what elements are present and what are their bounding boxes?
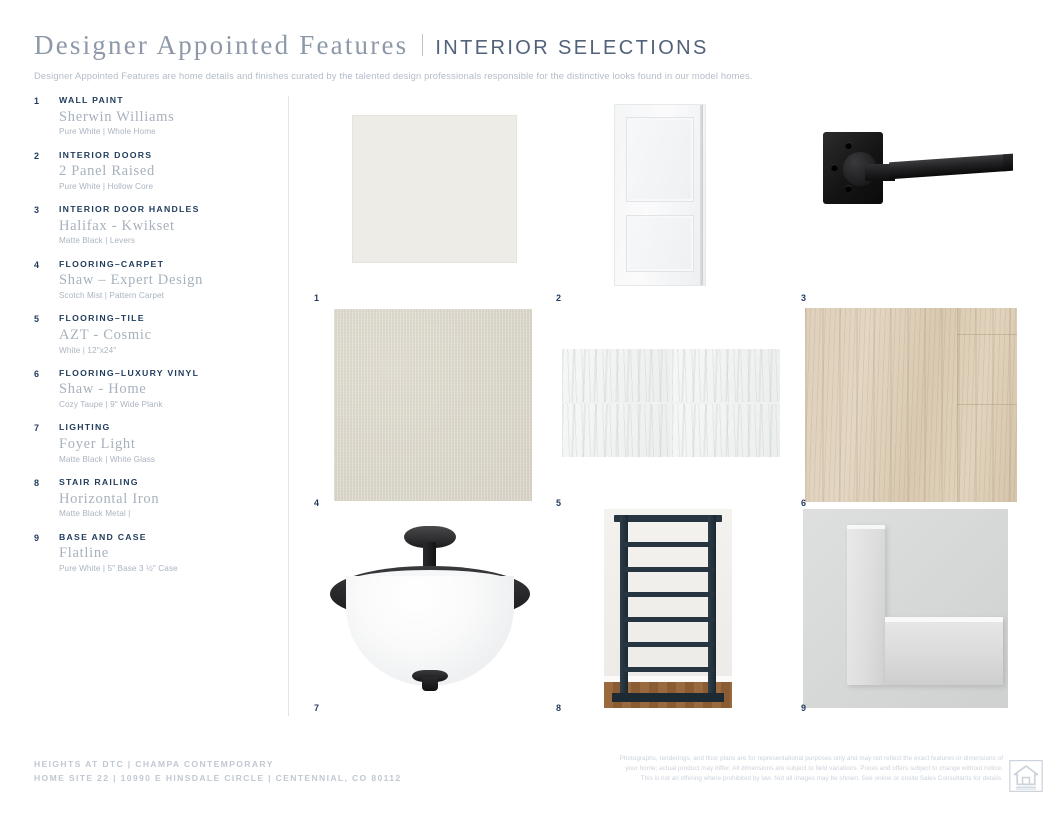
handle-screw-icon	[845, 185, 852, 192]
designer-appointed-features-page: Designer Appointed Features INTERIOR SEL…	[0, 0, 1055, 815]
baseboard-highlight	[885, 617, 1003, 622]
gallery-cell-4: 4	[310, 301, 542, 506]
plank-seam	[957, 308, 958, 502]
railing-foot-plate	[612, 693, 724, 702]
railing-horizontal-bar	[622, 567, 714, 572]
page-subtitle: Designer Appointed Features are home det…	[34, 70, 1024, 81]
gallery-cell-1: 1	[310, 96, 542, 301]
spec-category: FLOORING–LUXURY VINYL	[59, 369, 274, 379]
gallery-cell-5: 5	[552, 301, 784, 506]
disclaimer-line-2: your home; actual product may differ. Al…	[533, 764, 1003, 774]
handle-screw-icon	[831, 164, 838, 171]
community-name: HEIGHTS AT DTC | CHAMPA CONTEMPORARY	[34, 758, 402, 772]
handle-screw-icon	[845, 142, 852, 149]
railing-top-rail	[614, 515, 722, 522]
spec-detail: Matte Black | White Glass	[59, 455, 274, 465]
vertical-divider	[288, 96, 289, 716]
spec-number: 4	[34, 260, 39, 270]
spec-category: BASE AND CASE	[59, 533, 274, 543]
railing-horizontal-bar	[622, 617, 714, 622]
railing-frame	[618, 515, 718, 694]
home-site-address: HOME SITE 22 | 10990 E HINSDALE CIRCLE |…	[34, 772, 402, 786]
gallery-number: 9	[801, 703, 806, 713]
disclaimer-line-1: Photographs, renderings, and floor plans…	[533, 754, 1003, 764]
spec-detail: Pure White | Whole Home	[59, 127, 274, 137]
spec-category: STAIR RAILING	[59, 478, 274, 488]
list-item: 4 FLOORING–CARPET Shaw – Expert Design S…	[34, 260, 274, 301]
spec-category: WALL PAINT	[59, 96, 274, 106]
spec-name: Sherwin Williams	[59, 109, 274, 126]
gallery-number: 7	[314, 703, 319, 713]
railing-horizontal-bar	[622, 592, 714, 597]
spec-number: 5	[34, 314, 39, 324]
stair-railing-image	[604, 509, 732, 708]
spec-category: FLOORING–TILE	[59, 314, 274, 324]
spec-category: INTERIOR DOOR HANDLES	[59, 205, 274, 215]
railing-horizontal-bar	[622, 542, 714, 547]
door-edge	[700, 105, 703, 285]
light-finial-tip	[422, 677, 438, 691]
tile-unit	[672, 349, 780, 402]
gallery-cell-6: 6	[797, 301, 1025, 506]
list-item: 3 INTERIOR DOOR HANDLES Halifax - Kwikse…	[34, 205, 274, 246]
spec-category: LIGHTING	[59, 423, 274, 433]
door-panel-top	[626, 117, 694, 202]
plank-seam	[957, 334, 1017, 335]
luxury-vinyl-plank-image	[805, 308, 1017, 502]
gallery-number: 8	[556, 703, 561, 713]
ceiling-light-image	[316, 520, 540, 698]
spec-number: 2	[34, 151, 39, 161]
community-info: HEIGHTS AT DTC | CHAMPA CONTEMPORARY HOM…	[34, 758, 402, 786]
spec-detail: Pure White | Hollow Core	[59, 182, 274, 192]
spec-number: 9	[34, 533, 39, 543]
tile-unit	[672, 404, 780, 457]
handle-lever-arm	[889, 154, 1013, 180]
page-title-primary: Designer Appointed Features	[34, 30, 408, 61]
spec-category: INTERIOR DOORS	[59, 151, 274, 161]
gallery-row: 7	[310, 506, 1025, 711]
spec-number: 6	[34, 369, 39, 379]
paint-swatch-image	[352, 115, 517, 263]
page-header: Designer Appointed Features INTERIOR SEL…	[34, 30, 1024, 81]
spec-number: 3	[34, 205, 39, 215]
gallery-cell-7: 7	[310, 506, 542, 711]
page-title-secondary: INTERIOR SELECTIONS	[435, 37, 708, 60]
casing-sample	[847, 525, 885, 685]
list-item: 7 LIGHTING Foyer Light Matte Black | Whi…	[34, 423, 274, 464]
spec-detail: Scotch Mist | Pattern Carpet	[59, 291, 274, 301]
spec-detail: White | 12"x24"	[59, 346, 274, 356]
plank-seam	[957, 404, 1017, 405]
railing-horizontal-bar	[622, 642, 714, 647]
list-item: 5 FLOORING–TILE AZT - Cosmic White | 12"…	[34, 314, 274, 355]
spec-detail: Matte Black Metal |	[59, 509, 274, 519]
door-slab	[614, 104, 706, 286]
spec-category: FLOORING–CARPET	[59, 260, 274, 270]
spec-detail: Matte Black | Levers	[59, 236, 274, 246]
spec-number: 7	[34, 423, 39, 433]
spec-name: 2 Panel Raised	[59, 163, 274, 180]
list-item: 8 STAIR RAILING Horizontal Iron Matte Bl…	[34, 478, 274, 519]
list-item: 2 INTERIOR DOORS 2 Panel Raised Pure Whi…	[34, 151, 274, 192]
selections-list: 1 WALL PAINT Sherwin Williams Pure White…	[34, 96, 274, 587]
carpet-swatch-image	[334, 309, 532, 501]
gallery-row: 1 2	[310, 96, 1025, 301]
gallery-cell-9: 9	[797, 506, 1025, 711]
disclaimer-line-3: This is not an offering where prohibited…	[533, 774, 1003, 784]
title-divider	[422, 34, 423, 56]
spec-name: Shaw - Home	[59, 381, 274, 398]
spec-detail: Cozy Taupe | 9" Wide Plank	[59, 400, 274, 410]
spec-name: Horizontal Iron	[59, 491, 274, 508]
spec-number: 1	[34, 96, 39, 106]
gallery-cell-8: 8	[552, 506, 784, 711]
image-gallery: 1 2	[310, 96, 1025, 711]
tile-unit	[562, 404, 670, 457]
tile-swatch-image	[562, 349, 780, 457]
spec-name: Halifax - Kwikset	[59, 218, 274, 235]
gallery-cell-2: 2	[552, 96, 784, 301]
spec-name: Foyer Light	[59, 436, 274, 453]
equal-housing-opportunity-logo	[1009, 760, 1043, 792]
spec-name: Flatline	[59, 545, 274, 562]
handle-lever-cap	[1003, 154, 1013, 172]
railing-horizontal-bar	[622, 667, 714, 672]
page-footer: HEIGHTS AT DTC | CHAMPA CONTEMPORARY HOM…	[0, 748, 1055, 815]
spec-number: 8	[34, 478, 39, 488]
gallery-cell-3: 3	[797, 96, 1025, 301]
two-panel-door-image	[614, 104, 706, 286]
spec-name: Shaw – Expert Design	[59, 272, 274, 289]
door-panel-bottom	[626, 215, 694, 272]
gallery-row: 4 5 6	[310, 301, 1025, 506]
spec-detail: Pure White | 5" Base 3 ½" Case	[59, 564, 274, 574]
tile-unit	[562, 349, 670, 402]
list-item: 6 FLOORING–LUXURY VINYL Shaw - Home Cozy…	[34, 369, 274, 410]
casing-highlight	[847, 525, 885, 529]
page-title: Designer Appointed Features INTERIOR SEL…	[34, 30, 1024, 61]
list-item: 9 BASE AND CASE Flatline Pure White | 5"…	[34, 533, 274, 574]
list-item: 1 WALL PAINT Sherwin Williams Pure White…	[34, 96, 274, 137]
spec-name: AZT - Cosmic	[59, 327, 274, 344]
lever-door-handle-image	[819, 124, 1015, 224]
baseboard-sample	[885, 617, 1003, 685]
base-and-case-image	[803, 509, 1008, 708]
legal-disclaimer: Photographs, renderings, and floor plans…	[533, 754, 1003, 785]
